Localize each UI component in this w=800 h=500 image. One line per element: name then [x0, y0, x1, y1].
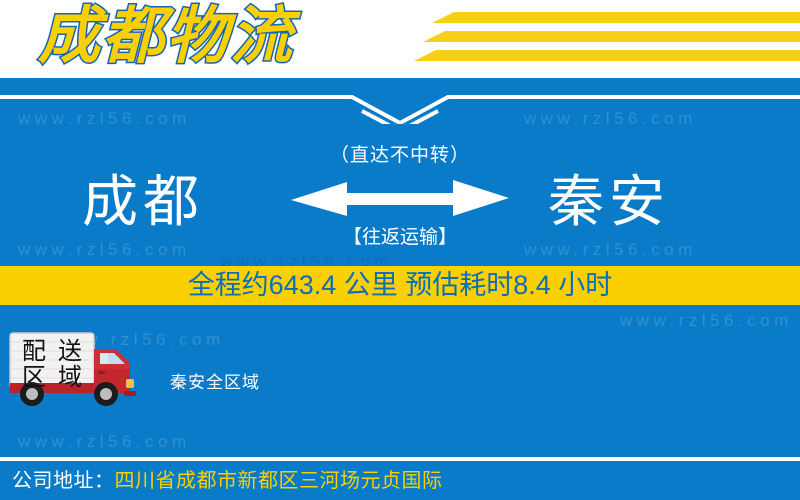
delivery-truck-icon: 配 送 区 域 — [8, 329, 154, 407]
roundtrip-note: 【往返运输】 — [285, 222, 515, 249]
bidirectional-arrow-icon — [285, 176, 515, 220]
stripe-1 — [432, 12, 800, 23]
watermark: www.rzl56.com — [18, 240, 191, 260]
company-address-label: 公司地址： — [12, 470, 115, 492]
company-address-value: 四川省成都市新都区三河场元贞国际 — [115, 470, 443, 492]
truck-box-char-1: 配 — [22, 338, 46, 365]
decorative-stripes — [418, 10, 800, 68]
coverage-area-label: 秦安全区域 — [170, 368, 260, 393]
watermark: www.rzl56.com — [18, 432, 191, 452]
truck-box-char-4: 域 — [58, 364, 82, 391]
watermark: www.rzl56.com — [524, 109, 697, 129]
truck-box-char-3: 区 — [22, 364, 46, 391]
metrics-summary: 全程约643.4 公里 预估耗时8.4 小时 — [0, 266, 800, 305]
logistics-route-banner: 成都物流 www.rzl56.com www.rzl56.com www.rzl… — [0, 0, 800, 500]
origin-city: 成都 — [82, 170, 204, 234]
stripe-2 — [423, 31, 800, 42]
watermark: www.rzl56.com — [620, 311, 793, 331]
watermark: www.rzl56.com — [524, 240, 697, 260]
banner-header: 成都物流 — [0, 0, 800, 78]
truck-box-char-2: 送 — [58, 338, 82, 365]
destination-city: 秦安 — [548, 170, 670, 234]
metrics-bar: 全程约643.4 公里 预估耗时8.4 小时 — [0, 266, 800, 305]
stripe-3 — [414, 50, 800, 61]
company-address-line: 公司地址：四川省成都市新都区三河场元贞国际 — [12, 466, 443, 496]
watermark: www.rzl56.com — [18, 109, 191, 129]
brand-title: 成都物流 — [38, 0, 294, 76]
direct-shipping-note: （直达不中转） — [285, 140, 515, 167]
